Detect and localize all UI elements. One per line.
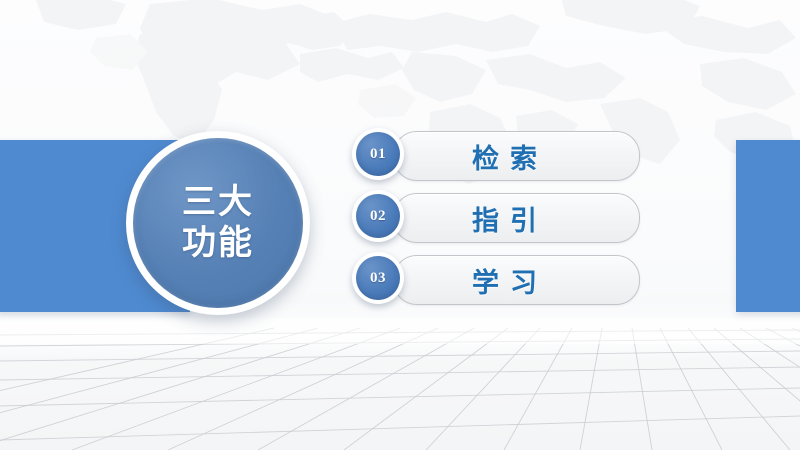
item-number-03: 03 [370, 270, 386, 287]
main-title-line-1: 三大 [182, 182, 254, 223]
item-number-badge-03[interactable]: 03 [352, 252, 404, 304]
item-number-badge-02[interactable]: 02 [352, 190, 404, 242]
item-label-03: 学习 [461, 261, 548, 300]
item-number-02: 02 [370, 208, 386, 225]
item-label-01: 检索 [461, 137, 548, 176]
perspective-grid-floor [0, 318, 800, 450]
item-pill-02[interactable]: 指引 [393, 193, 640, 243]
item-pill-03[interactable]: 学习 [393, 255, 640, 305]
number-face-01: 01 [356, 132, 400, 176]
main-title-line-2: 功能 [182, 223, 254, 264]
item-number-badge-01[interactable]: 01 [352, 128, 404, 180]
main-circle-face: 三大 功能 [133, 138, 303, 308]
item-label-02: 指引 [461, 199, 548, 238]
slide-canvas: 三大 功能 检索 01 指引 02 [0, 0, 800, 450]
right-accent-bar [736, 140, 800, 312]
list-item[interactable]: 指引 02 [348, 188, 648, 246]
number-face-02: 02 [356, 194, 400, 238]
function-list: 检索 01 指引 02 学习 [348, 126, 648, 326]
list-item[interactable]: 检索 01 [348, 126, 648, 184]
item-number-01: 01 [370, 146, 386, 163]
item-pill-01[interactable]: 检索 [393, 131, 640, 181]
main-title-circle: 三大 功能 [126, 131, 310, 315]
number-face-03: 03 [356, 256, 400, 300]
list-item[interactable]: 学习 03 [348, 250, 648, 308]
